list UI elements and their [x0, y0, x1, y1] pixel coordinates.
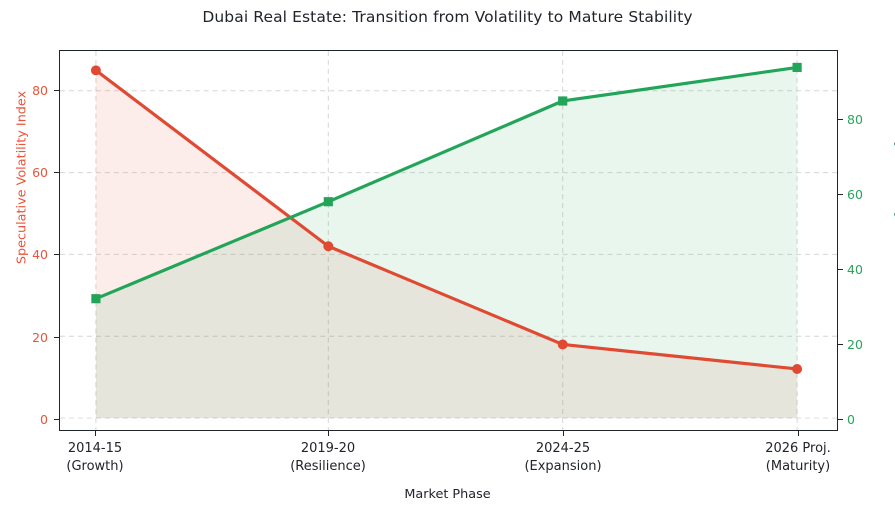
x-axis-label-expansion-line1: 2024-25 [473, 440, 653, 458]
x-axis-title: Market Phase [0, 487, 895, 502]
plot-area [59, 50, 838, 431]
y-axis-left-tick-0: 0 [40, 412, 48, 427]
y-axis-left-tick-40: 40 [32, 247, 48, 262]
chart-figure: Dubai Real Estate: Transition from Volat… [0, 0, 895, 512]
y-axis-right-tickmark-0 [838, 419, 843, 420]
y-axis-right-tick-80: 80 [847, 112, 863, 127]
x-axis-label-expansion-line2: (Expansion) [473, 458, 653, 476]
x-axis-tickmark-1 [328, 431, 329, 436]
y-axis-left-tick-80: 80 [32, 83, 48, 98]
x-axis-label-resilience-line2: (Resilience) [238, 458, 418, 476]
y-axis-right-tick-20: 20 [847, 337, 863, 352]
x-axis-label-growth: 2014-15 (Growth) [5, 440, 185, 475]
y-axis-left-tick-60: 60 [32, 165, 48, 180]
y-axis-right-tickmark-80 [838, 119, 843, 120]
y-axis-right-tick-0: 0 [847, 412, 855, 427]
x-axis-label-growth-line2: (Growth) [5, 458, 185, 476]
y-axis-left-tick-20: 20 [32, 330, 48, 345]
series-lines [60, 51, 837, 430]
y-axis-right-tickmark-40 [838, 269, 843, 270]
x-axis-label-growth-line1: 2014-15 [5, 440, 185, 458]
x-axis-label-resilience: 2019-20 (Resilience) [238, 440, 418, 475]
x-axis-label-expansion: 2024-25 (Expansion) [473, 440, 653, 475]
x-axis-label-maturity: 2026 Proj. (Maturity) [708, 440, 888, 475]
chart-title: Dubai Real Estate: Transition from Volat… [0, 8, 895, 26]
y-axis-left-title: Speculative Volatility Index [15, 28, 30, 328]
y-axis-right-tick-40: 40 [847, 262, 863, 277]
x-axis-tickmark-0 [95, 431, 96, 436]
y-axis-right-tickmark-20 [838, 344, 843, 345]
y-axis-right-tick-60: 60 [847, 187, 863, 202]
x-axis-tickmark-3 [798, 431, 799, 436]
y-axis-right-tickmark-60 [838, 194, 843, 195]
x-axis-label-maturity-line2: (Maturity) [708, 458, 888, 476]
x-axis-tickmark-2 [563, 431, 564, 436]
x-axis-label-resilience-line1: 2019-20 [238, 440, 418, 458]
x-axis-label-maturity-line1: 2026 Proj. [708, 440, 888, 458]
